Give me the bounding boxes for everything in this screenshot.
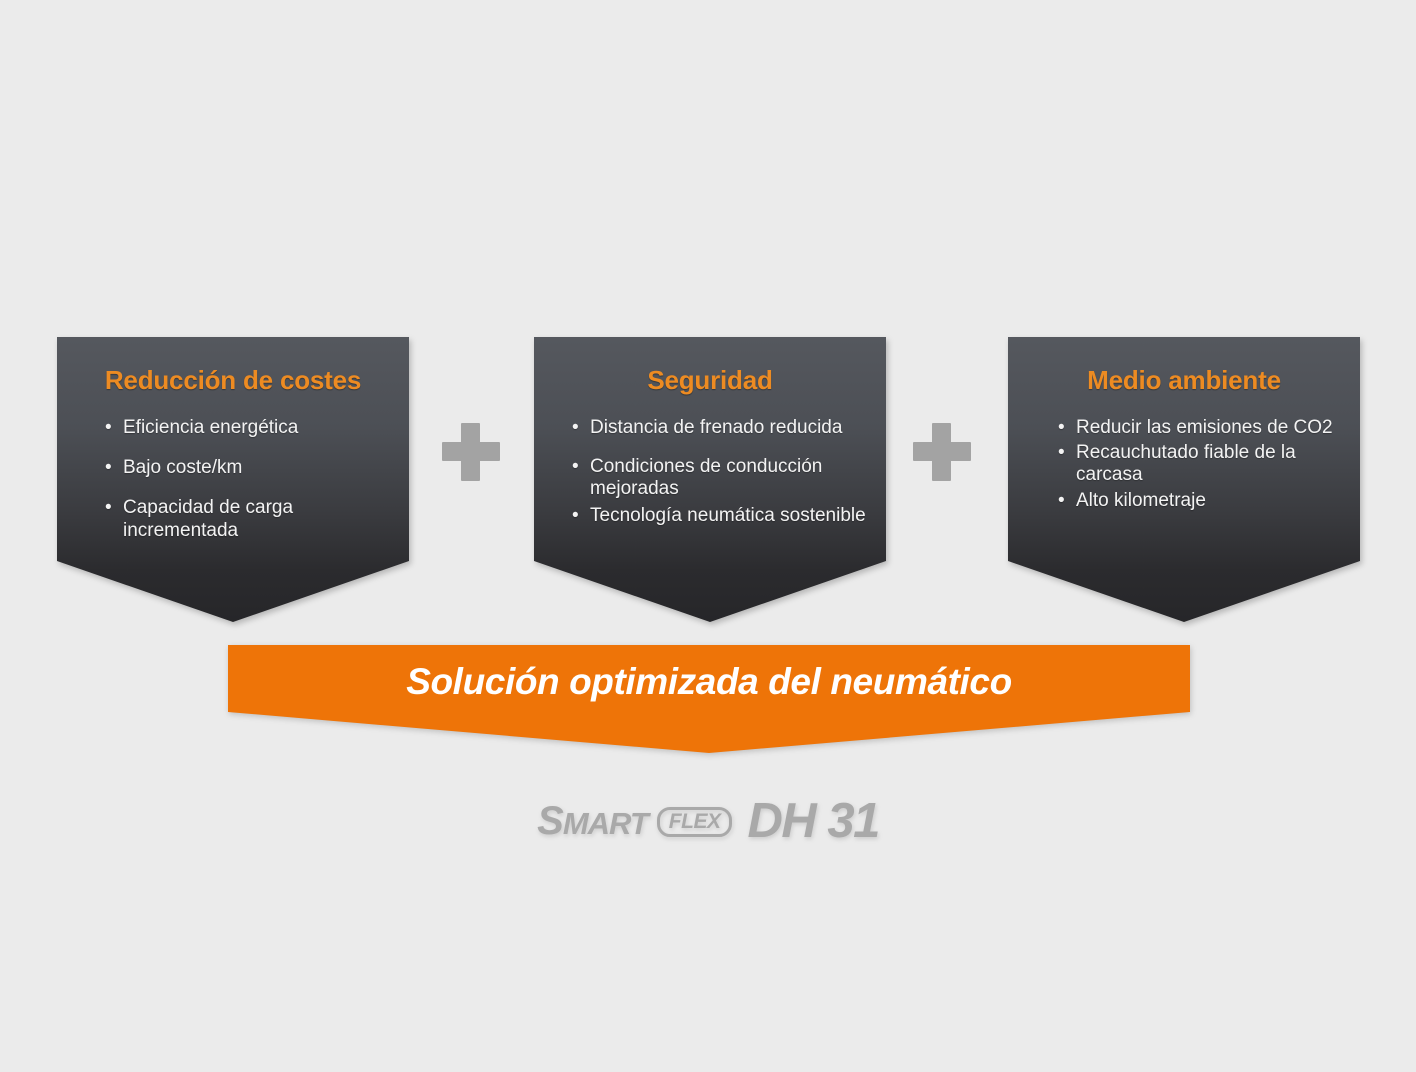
list-item: Tecnología neumática sostenible: [570, 505, 872, 527]
panel-content: Medio ambiente Reducir las emisiones de …: [1008, 337, 1360, 622]
list-item: Recauchutado fiable de la carcasa: [1056, 442, 1346, 487]
benefit-panel-safety: Seguridad Distancia de frenado reducida …: [534, 337, 886, 622]
panel-title: Medio ambiente: [1022, 337, 1346, 395]
list-item: Eficiencia energética: [103, 417, 395, 439]
list-item: Alto kilometraje: [1056, 490, 1346, 512]
logo-letters-mart: MART: [563, 806, 648, 841]
list-item: Distancia de frenado reducida: [570, 417, 872, 439]
panel-content: Seguridad Distancia de frenado reducida …: [534, 337, 886, 622]
panel-bullet-list: Eficiencia energética Bajo coste/km Capa…: [71, 417, 395, 543]
plus-icon: [913, 423, 971, 481]
panel-title: Seguridad: [548, 337, 872, 395]
result-banner: Solución optimizada del neumático: [228, 645, 1190, 753]
product-logo: SMART FLEX DH 31: [0, 793, 1416, 849]
benefit-panel-cost-reduction: Reducción de costes Eficiencia energétic…: [57, 337, 409, 622]
logo-letter-s: S: [537, 799, 563, 843]
logo-model-name: DH 31: [747, 793, 878, 849]
list-item: Capacidad de carga incrementada: [103, 497, 395, 542]
list-item: Condiciones de conducción mejoradas: [570, 456, 872, 501]
panel-title: Reducción de costes: [71, 337, 395, 395]
list-item: Reducir las emisiones de CO2: [1056, 417, 1346, 439]
logo-wordmark-smart: SMART: [537, 799, 648, 844]
banner-label: Solución optimizada del neumático: [228, 661, 1190, 703]
logo-badge-flex: FLEX: [657, 807, 733, 837]
benefit-panel-environment: Medio ambiente Reducir las emisiones de …: [1008, 337, 1360, 622]
panel-bullet-list: Reducir las emisiones de CO2 Recauchutad…: [1022, 417, 1346, 513]
panel-content: Reducción de costes Eficiencia energétic…: [57, 337, 409, 622]
infographic-canvas: Reducción de costes Eficiencia energétic…: [0, 0, 1416, 1072]
plus-icon: [442, 423, 500, 481]
panel-bullet-list: Distancia de frenado reducida Condicione…: [548, 417, 872, 528]
list-item: Bajo coste/km: [103, 457, 395, 479]
